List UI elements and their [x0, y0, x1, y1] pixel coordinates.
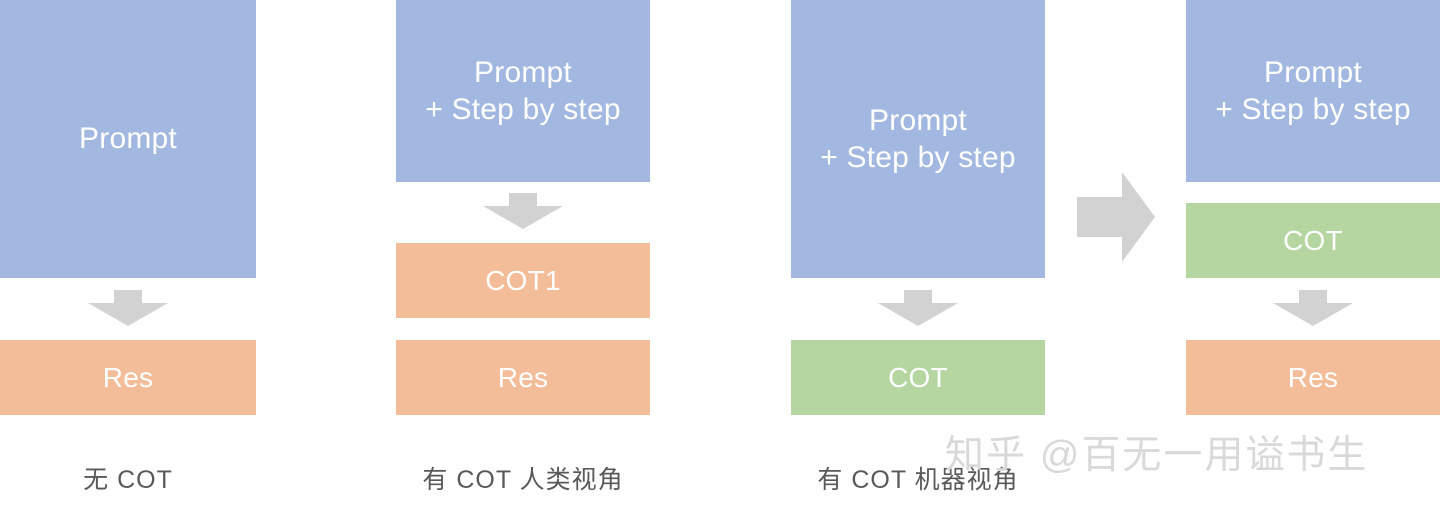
node-col3-prompt-step: Prompt + Step by step: [791, 0, 1045, 278]
down-arrow-icon-col1: [88, 290, 168, 326]
node-col1-prompt: Prompt: [0, 0, 256, 278]
down-arrow-icon-col2: [483, 193, 563, 229]
node-col2-prompt-step: Prompt + Step by step: [396, 0, 650, 182]
node-col4-res: Res: [1186, 340, 1440, 415]
caption-col3: 有 COT 机器视角: [791, 460, 1045, 496]
right-arrow-icon: [1077, 172, 1155, 262]
down-arrow-icon-col3: [878, 290, 958, 326]
caption-col1: 无 COT: [0, 460, 256, 496]
node-col1-res: Res: [0, 340, 256, 415]
down-arrow-icon-col4: [1273, 290, 1353, 326]
node-col4-cot: COT: [1186, 203, 1440, 278]
node-col2-res: Res: [396, 340, 650, 415]
node-col4-prompt-step: Prompt + Step by step: [1186, 0, 1440, 182]
diagram-canvas: Prompt Res 无 COT Prompt + Step by step C…: [0, 0, 1440, 514]
caption-col2: 有 COT 人类视角: [396, 460, 650, 496]
node-col3-cot: COT: [791, 340, 1045, 415]
node-col2-cot1: COT1: [396, 243, 650, 318]
